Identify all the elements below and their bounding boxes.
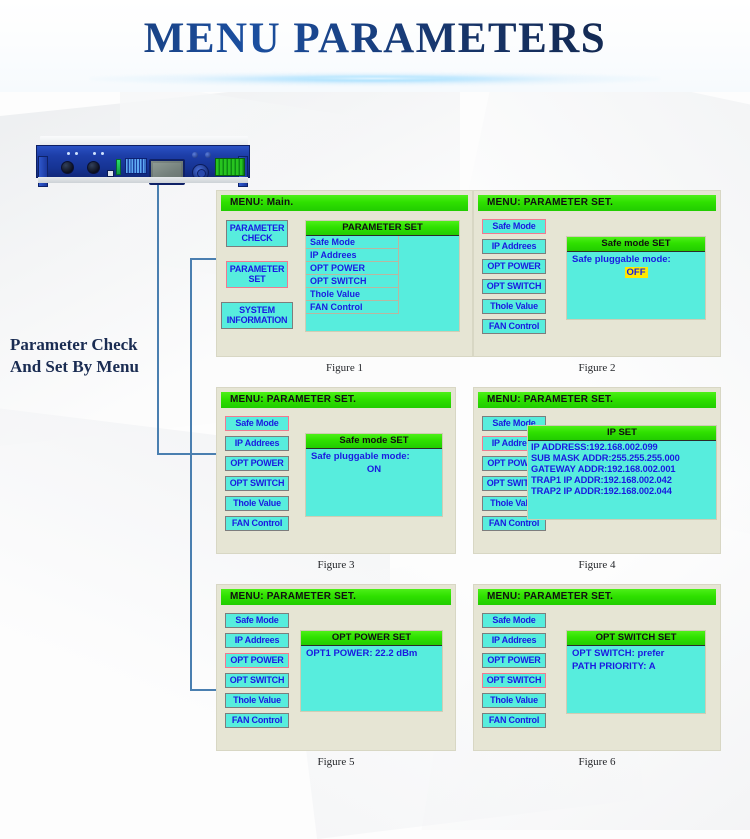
figure-5-screen: MENU: PARAMETER SET. Safe Mode IP Addree… (216, 584, 456, 751)
sidebar-item-fan-control[interactable]: FAN Control (225, 713, 289, 728)
figure-5-sidebar: Safe Mode IP Addrees OPT POWER OPT SWITC… (225, 613, 289, 733)
figure-4-screen: MENU: PARAMETER SET. Safe Mode IP Addree… (473, 387, 721, 554)
figure-1-titlebar: MENU: Main. (221, 195, 468, 211)
figure-6-panel-title: OPT SWITCH SET (567, 631, 705, 646)
connector-branch-row2 (157, 453, 216, 455)
sidebar-item-ip-addrees[interactable]: IP Addrees (225, 633, 289, 648)
sidebar-item-thole-value[interactable]: Thole Value (482, 693, 546, 708)
sidebar-item-ip-addrees[interactable]: IP Addrees (482, 633, 546, 648)
panel-menu-item[interactable]: IP Addrees (306, 249, 399, 262)
sidebar-item-label-2: CHECK (241, 233, 272, 243)
left-caption-line2: And Set By Menu (10, 356, 185, 378)
figure-5-caption: Figure 5 (216, 756, 456, 768)
sidebar-item-opt-power[interactable]: OPT POWER (482, 259, 546, 274)
figure-6-caption: Figure 6 (473, 756, 721, 768)
sidebar-item-ip-addrees[interactable]: IP Addrees (225, 436, 289, 451)
figure-6-panel-line2: PATH PRIORITY: A (567, 659, 705, 672)
panel-menu-item[interactable]: OPT SWITCH (306, 275, 399, 288)
left-caption: Parameter Check And Set By Menu (10, 334, 185, 379)
led-bar-array (125, 158, 147, 174)
figure-6-screen: MENU: PARAMETER SET. Safe Mode IP Addree… (473, 584, 721, 751)
figure-2-titlebar: MENU: PARAMETER SET. (478, 195, 716, 211)
sidebar-item-label: SYSTEM (239, 305, 275, 315)
figure-5-panel-line1: OPT1 POWER: 22.2 dBm (301, 646, 442, 659)
figure-1-panel-menu: Safe Mode IP Addrees OPT POWER OPT SWITC… (306, 236, 459, 314)
figure-6-panel-line1: OPT SWITCH: prefer (567, 646, 705, 659)
figure-2: MENU: PARAMETER SET. Safe Mode IP Addree… (473, 190, 721, 374)
sidebar-item-fan-control[interactable]: FAN Control (482, 713, 546, 728)
sidebar-item-label-2: INFORMATION (227, 315, 288, 325)
device-face-plate: www.fiber.com (36, 145, 250, 178)
page-header: MENU PARAMETERS (0, 0, 750, 92)
sidebar-item-opt-power[interactable]: OPT POWER (482, 653, 546, 668)
green-terminal-block (215, 158, 245, 176)
figure-4-titlebar: MENU: PARAMETER SET. (478, 392, 716, 408)
ip-row-gateway: GATEWAY ADDR:192.168.002.001 (528, 463, 716, 474)
connector-vertical-lower (190, 453, 192, 691)
figure-6-titlebar: MENU: PARAMETER SET. (478, 589, 716, 605)
esc-button[interactable] (205, 152, 211, 158)
figure-1: MENU: Main. PARAMETER CHECK PARAMETER SE… (216, 190, 473, 374)
power-connector-2 (87, 161, 100, 174)
menu-button[interactable] (192, 152, 198, 158)
figure-6-sidebar: Safe Mode IP Addrees OPT POWER OPT SWITC… (482, 613, 546, 733)
sidebar-item-safe-mode[interactable]: Safe Mode (482, 219, 546, 234)
sidebar-item-opt-power[interactable]: OPT POWER (225, 653, 289, 668)
sidebar-item-opt-switch[interactable]: OPT SWITCH (225, 476, 289, 491)
figure-3: MENU: PARAMETER SET. Safe Mode IP Addree… (216, 387, 456, 571)
figure-6-panel: OPT SWITCH SET OPT SWITCH: prefer PATH P… (566, 630, 706, 714)
sidebar-item-opt-switch[interactable]: OPT SWITCH (225, 673, 289, 688)
figure-5: MENU: PARAMETER SET. Safe Mode IP Addree… (216, 584, 456, 768)
figure-2-panel-title: Safe mode SET (567, 237, 705, 252)
figure-4-caption: Figure 4 (473, 559, 721, 571)
sidebar-item-thole-value[interactable]: Thole Value (225, 693, 289, 708)
figure-1-body: PARAMETER CHECK PARAMETER SET SYSTEM INF… (217, 211, 472, 356)
status-led-3 (93, 152, 96, 155)
sidebar-item-label: PARAMETER (230, 223, 285, 233)
power-connector-1 (61, 161, 74, 174)
figure-3-panel: Safe mode SET Safe pluggable mode: ON (305, 433, 443, 517)
figure-6-body: Safe Mode IP Addrees OPT POWER OPT SWITC… (474, 605, 720, 750)
sidebar-item-opt-switch[interactable]: OPT SWITCH (482, 279, 546, 294)
ethernet-port (107, 170, 114, 177)
figure-1-screen: MENU: Main. PARAMETER CHECK PARAMETER SE… (216, 190, 473, 357)
figure-4-body: Safe Mode IP Addrees OPT POWER OPT SWITC… (474, 408, 720, 553)
figure-2-body: Safe Mode IP Addrees OPT POWER OPT SWITC… (474, 211, 720, 356)
figure-1-panel: PARAMETER SET Safe Mode IP Addrees OPT P… (305, 220, 460, 332)
figure-1-caption: Figure 1 (216, 362, 473, 374)
sidebar-item-thole-value[interactable]: Thole Value (482, 299, 546, 314)
green-indicator-strip (116, 159, 121, 175)
ip-row-subnet-mask: SUB MASK ADDR:255.255.255.000 (528, 452, 716, 463)
sidebar-item-opt-power[interactable]: OPT POWER (225, 456, 289, 471)
figure-5-titlebar: MENU: PARAMETER SET. (221, 589, 451, 605)
figure-3-panel-value-row: ON (306, 462, 442, 475)
sidebar-item-opt-switch[interactable]: OPT SWITCH (482, 673, 546, 688)
sidebar-item-thole-value[interactable]: Thole Value (225, 496, 289, 511)
sidebar-item-safe-mode[interactable]: Safe Mode (225, 613, 289, 628)
figure-3-panel-line1: Safe pluggable mode: (306, 449, 442, 462)
title-glow-core (260, 75, 490, 82)
figure-2-panel-value-row: OFF (567, 265, 705, 278)
figure-2-panel: Safe mode SET Safe pluggable mode: OFF (566, 236, 706, 320)
panel-menu-item[interactable]: FAN Control (306, 301, 399, 314)
left-caption-line1: Parameter Check (10, 334, 185, 356)
sidebar-item-parameter-check[interactable]: PARAMETER CHECK (226, 220, 288, 247)
figure-5-body: Safe Mode IP Addrees OPT POWER OPT SWITC… (217, 605, 455, 750)
figure-2-sidebar: Safe Mode IP Addrees OPT POWER OPT SWITC… (482, 219, 546, 339)
figure-3-sidebar: Safe Mode IP Addrees OPT POWER OPT SWITC… (225, 416, 289, 536)
sidebar-item-label-2: SET (249, 274, 266, 284)
device-front-panel: www.fiber.com (36, 136, 250, 184)
figure-2-screen: MENU: PARAMETER SET. Safe Mode IP Addree… (473, 190, 721, 357)
figure-3-panel-title: Safe mode SET (306, 434, 442, 449)
device-bottom-edge (38, 177, 248, 183)
figure-2-caption: Figure 2 (473, 362, 721, 374)
panel-menu-item[interactable]: Safe Mode (306, 236, 399, 249)
figure-1-panel-title: PARAMETER SET (306, 221, 459, 236)
figure-3-screen: MENU: PARAMETER SET. Safe Mode IP Addree… (216, 387, 456, 554)
sidebar-item-safe-mode[interactable]: Safe Mode (225, 416, 289, 431)
page-title: MENU PARAMETERS (0, 14, 750, 63)
figure-3-caption: Figure 3 (216, 559, 456, 571)
connector-vertical-branch (190, 258, 192, 455)
figure-2-panel-line1: Safe pluggable mode: (567, 252, 705, 265)
connector-branch-row3 (190, 689, 216, 691)
figure-1-sidebar: PARAMETER CHECK PARAMETER SET SYSTEM INF… (226, 220, 288, 343)
figure-6: MENU: PARAMETER SET. Safe Mode IP Addree… (473, 584, 721, 768)
sidebar-item-label: PARAMETER (230, 264, 285, 274)
figure-4-panel: IP SET IP ADDRESS:192.168.002.099 SUB MA… (527, 425, 717, 520)
figure-5-panel-title: OPT POWER SET (301, 631, 442, 646)
status-badge-safe-mode-value: OFF (625, 267, 648, 278)
status-badge-safe-mode-value: ON (367, 464, 381, 475)
ip-row-trap1: TRAP1 IP ADDR:192.168.002.042 (528, 474, 716, 485)
status-led-1 (67, 152, 70, 155)
figure-3-body: Safe Mode IP Addrees OPT POWER OPT SWITC… (217, 408, 455, 553)
ip-row-trap2: TRAP2 IP ADDR:192.168.002.044 (528, 485, 716, 496)
panel-menu-item[interactable]: OPT POWER (306, 262, 399, 275)
ip-row-address: IP ADDRESS:192.168.002.099 (528, 441, 716, 452)
sidebar-item-ip-addrees[interactable]: IP Addrees (482, 239, 546, 254)
status-led-2 (75, 152, 78, 155)
figure-3-titlebar: MENU: PARAMETER SET. (221, 392, 451, 408)
panel-menu-item[interactable]: Thole Value (306, 288, 399, 301)
connector-branch-row1 (190, 258, 216, 260)
sidebar-item-safe-mode[interactable]: Safe Mode (482, 613, 546, 628)
status-led-4 (101, 152, 104, 155)
sidebar-item-fan-control[interactable]: FAN Control (225, 516, 289, 531)
figure-5-panel: OPT POWER SET OPT1 POWER: 22.2 dBm (300, 630, 443, 712)
connector-vertical-main (157, 176, 159, 453)
sidebar-item-fan-control[interactable]: FAN Control (482, 319, 546, 334)
figure-4-panel-title: IP SET (528, 426, 716, 441)
figure-4: MENU: PARAMETER SET. Safe Mode IP Addree… (473, 387, 721, 571)
sidebar-item-parameter-set[interactable]: PARAMETER SET (226, 261, 288, 288)
sidebar-item-system-information[interactable]: SYSTEM INFORMATION (221, 302, 293, 329)
